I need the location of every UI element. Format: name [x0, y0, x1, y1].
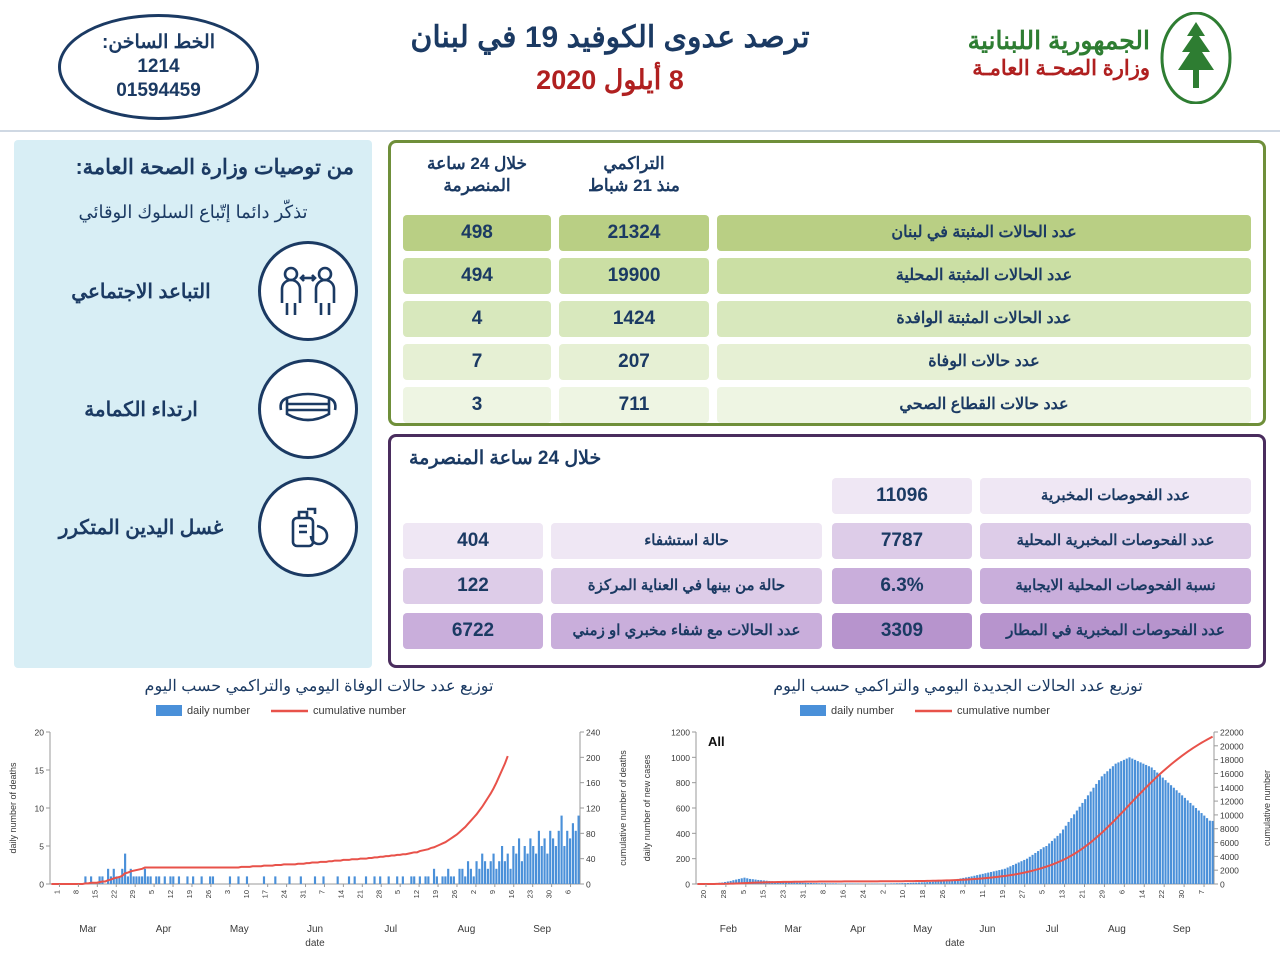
svg-text:Jul: Jul: [1046, 924, 1059, 935]
svg-text:5: 5: [739, 890, 748, 894]
svg-text:daily number: daily number: [831, 705, 894, 717]
table-row: عدد الحالات المثبتة الوافدة 1424 4: [403, 301, 1251, 337]
row-label: عدد حالات الوفاة: [717, 344, 1251, 380]
svg-text:cumulative number: cumulative number: [1262, 770, 1272, 846]
table-row: حالة من بينها في العناية المركزة 122: [403, 568, 822, 604]
table-row: عدد الحالات مع شفاء مخبري او زمني 6722: [403, 613, 822, 649]
cases-chart-panel: توزيع عدد الحالات الجديدة اليومي والتراك…: [640, 676, 1276, 954]
row-value: 6722: [403, 613, 543, 649]
svg-text:0: 0: [1220, 880, 1225, 890]
row-value: 122: [403, 568, 543, 604]
svg-text:5: 5: [393, 890, 402, 894]
svg-text:2: 2: [878, 890, 887, 894]
svg-text:19: 19: [431, 890, 440, 898]
svg-text:200: 200: [586, 753, 600, 763]
row-last24: 494: [403, 258, 551, 294]
cases-summary-box: التراكمي منذ 21 شباط خلال 24 ساعة المنصر…: [388, 140, 1266, 426]
svg-text:24: 24: [858, 890, 867, 898]
svg-text:7: 7: [317, 890, 326, 894]
svg-text:120: 120: [586, 804, 600, 814]
row-value: 3309: [832, 613, 972, 649]
svg-text:14: 14: [1137, 890, 1146, 898]
svg-text:400: 400: [676, 829, 690, 839]
svg-text:5: 5: [1038, 890, 1047, 894]
recommendation-label: غسل اليدين المتكرر: [24, 515, 258, 540]
svg-text:12: 12: [412, 890, 421, 898]
row-label: عدد الفحوصات المخبرية المحلية: [980, 523, 1251, 559]
svg-text:daily number of deaths: daily number of deaths: [8, 762, 18, 854]
svg-text:80: 80: [586, 829, 596, 839]
row-label: نسبة الفحوصات المحلية الايجابية: [980, 568, 1251, 604]
recommendation-item-mask: ارتداء الكمامة: [24, 359, 362, 459]
svg-text:14000: 14000: [1220, 783, 1244, 793]
deaths-chart-title: توزيع عدد حالات الوفاة اليومي والتراكمي …: [6, 676, 632, 696]
svg-text:12: 12: [166, 890, 175, 898]
table-row: عدد الحالات المثبتة في لبنان 21324 498: [403, 215, 1251, 251]
row-label: حالة من بينها في العناية المركزة: [551, 568, 822, 604]
row-last24: 7: [403, 344, 551, 380]
svg-text:5: 5: [39, 842, 44, 852]
last24-header-line1: خلال 24 ساعة: [403, 153, 551, 175]
row-label: عدد الحالات مع شفاء مخبري او زمني: [551, 613, 822, 649]
svg-text:Mar: Mar: [785, 924, 803, 935]
svg-text:17: 17: [261, 890, 270, 898]
row-last24: 498: [403, 215, 551, 251]
page-title: ترصد عدوى الكوفيد 19 في لبنان: [300, 18, 920, 59]
svg-text:20: 20: [35, 728, 45, 738]
tests-left-column: عدد الفحوصات المخبرية 11096 عدد الفحوصات…: [832, 478, 1251, 658]
last24-header: خلال 24 ساعة المنصرمة: [403, 153, 551, 197]
svg-text:22: 22: [109, 890, 118, 898]
svg-text:19: 19: [185, 890, 194, 898]
table-row: عدد حالات الوفاة 207 7: [403, 344, 1251, 380]
cumulative-header-line2: منذ 21 شباط: [559, 175, 709, 197]
svg-text:Apr: Apr: [850, 924, 866, 935]
recommendations-subtitle: تذكّر دائما إتّباع السلوك الوقائي: [24, 202, 362, 223]
hotline-number-1: 1214: [137, 55, 179, 79]
table-row: عدد الفحوصات المخبرية في المطار 3309: [832, 613, 1251, 649]
row-cumulative: 21324: [559, 215, 709, 251]
svg-text:15: 15: [35, 766, 45, 776]
svg-text:Sep: Sep: [533, 924, 551, 935]
svg-text:6: 6: [1117, 890, 1126, 894]
row-cumulative: 1424: [559, 301, 709, 337]
last24-header-line2: المنصرمة: [403, 175, 551, 197]
svg-text:20000: 20000: [1220, 741, 1244, 751]
row-label: عدد الحالات المثبتة الوافدة: [717, 301, 1251, 337]
svg-text:date: date: [945, 938, 965, 949]
svg-text:1: 1: [52, 890, 61, 894]
svg-text:27: 27: [1018, 890, 1027, 898]
svg-text:0: 0: [39, 880, 44, 890]
hotline-label: الخط الساخن:: [102, 31, 215, 55]
row-label: حالة استشفاء: [551, 523, 822, 559]
svg-text:28: 28: [719, 890, 728, 898]
svg-text:cumulative number of deaths: cumulative number of deaths: [618, 750, 628, 866]
row-label: عدد الفحوصات المخبرية: [980, 478, 1251, 514]
svg-text:16: 16: [838, 890, 847, 898]
svg-text:23: 23: [526, 890, 535, 898]
row-value: 6.3%: [832, 568, 972, 604]
svg-text:14: 14: [336, 890, 345, 898]
svg-text:22000: 22000: [1220, 728, 1244, 738]
svg-text:9: 9: [488, 890, 497, 894]
row-cumulative: 207: [559, 344, 709, 380]
ministry-label: وزارة الصحـة العامـة: [968, 56, 1150, 81]
svg-text:30: 30: [545, 890, 554, 898]
report-date: 8 أيلول 2020: [300, 65, 920, 96]
svg-text:40: 40: [586, 854, 596, 864]
svg-text:160: 160: [586, 778, 600, 788]
svg-text:10: 10: [35, 804, 45, 814]
svg-text:21: 21: [1078, 890, 1087, 898]
row-cumulative: 711: [559, 387, 709, 423]
svg-text:800: 800: [676, 778, 690, 788]
svg-text:cumulative number: cumulative number: [957, 705, 1050, 717]
recommendation-label: التباعد الاجتماعي: [24, 279, 258, 304]
svg-text:1000: 1000: [671, 753, 690, 763]
svg-text:600: 600: [676, 804, 690, 814]
svg-text:2: 2: [469, 890, 478, 894]
svg-text:30: 30: [1177, 890, 1186, 898]
svg-text:29: 29: [128, 890, 137, 898]
row-value: 404: [403, 523, 543, 559]
svg-text:0: 0: [586, 880, 591, 890]
svg-text:8: 8: [819, 890, 828, 894]
svg-text:cumulative number: cumulative number: [313, 705, 406, 717]
svg-text:21: 21: [355, 890, 364, 898]
svg-text:3: 3: [223, 890, 232, 894]
svg-text:19: 19: [998, 890, 1007, 898]
svg-text:6000: 6000: [1220, 838, 1239, 848]
social-distancing-icon: [258, 241, 358, 341]
deaths-chart: 0510152004080120160200240181522295121926…: [6, 698, 632, 956]
row-last24: 4: [403, 301, 551, 337]
svg-text:May: May: [913, 924, 932, 935]
svg-text:date: date: [305, 938, 325, 949]
svg-text:daily number of new cases: daily number of new cases: [642, 754, 652, 861]
svg-text:1200: 1200: [671, 728, 690, 738]
svg-text:12000: 12000: [1220, 797, 1244, 807]
row-value: 7787: [832, 523, 972, 559]
svg-text:0: 0: [685, 880, 690, 890]
title-block: ترصد عدوى الكوفيد 19 في لبنان 8 أيلول 20…: [300, 18, 920, 96]
svg-text:24: 24: [280, 890, 289, 898]
table-row: عدد الحالات المثبتة المحلية 19900 494: [403, 258, 1251, 294]
svg-text:22: 22: [1157, 890, 1166, 898]
svg-text:15: 15: [759, 890, 768, 898]
svg-text:4000: 4000: [1220, 852, 1239, 862]
svg-text:29: 29: [1097, 890, 1106, 898]
svg-text:2000: 2000: [1220, 866, 1239, 876]
svg-text:10000: 10000: [1220, 810, 1244, 820]
svg-text:7: 7: [1197, 890, 1206, 894]
row-label: عدد الحالات المثبتة في لبنان: [717, 215, 1251, 251]
tests-box-title: خلال 24 ساعة المنصرمة: [403, 447, 1251, 470]
svg-text:200: 200: [676, 854, 690, 864]
face-mask-icon: [258, 359, 358, 459]
table-row: عدد الفحوصات المخبرية 11096: [832, 478, 1251, 514]
recommendations-panel: من توصيات وزارة الصحة العامة: تذكّر دائم…: [14, 140, 372, 668]
svg-text:18: 18: [918, 890, 927, 898]
svg-text:Aug: Aug: [458, 924, 476, 935]
cedar-logo-icon: [1160, 12, 1232, 104]
svg-text:28: 28: [374, 890, 383, 898]
row-value: 11096: [832, 478, 972, 514]
recommendation-label: ارتداء الكمامة: [24, 397, 258, 422]
svg-text:Apr: Apr: [156, 924, 172, 935]
hotline-number-2: 01594459: [116, 79, 201, 103]
svg-text:3: 3: [958, 890, 967, 894]
svg-text:Mar: Mar: [79, 924, 97, 935]
svg-text:5: 5: [147, 890, 156, 894]
cases-chart-title: توزيع عدد الحالات الجديدة اليومي والتراك…: [640, 676, 1276, 696]
svg-text:26: 26: [450, 890, 459, 898]
svg-text:Jun: Jun: [307, 924, 323, 935]
row-cumulative: 19900: [559, 258, 709, 294]
hotline-badge: الخط الساخن: 1214 01594459: [58, 14, 259, 120]
svg-text:6: 6: [564, 890, 573, 894]
svg-text:8000: 8000: [1220, 824, 1239, 834]
svg-text:31: 31: [799, 890, 808, 898]
svg-text:Jun: Jun: [979, 924, 995, 935]
table-row: عدد الفحوصات المخبرية المحلية 7787: [832, 523, 1251, 559]
tests-summary-box: خلال 24 ساعة المنصرمة عدد الفحوصات المخب…: [388, 434, 1266, 668]
cases-table-header: التراكمي منذ 21 شباط خلال 24 ساعة المنصر…: [403, 153, 1251, 215]
svg-text:10: 10: [242, 890, 251, 898]
svg-text:11: 11: [978, 890, 987, 898]
deaths-chart-panel: توزيع عدد حالات الوفاة اليومي والتراكمي …: [6, 676, 632, 954]
recommendation-item-social-distancing: التباعد الاجتماعي: [24, 241, 362, 341]
row-last24: 3: [403, 387, 551, 423]
svg-text:16000: 16000: [1220, 769, 1244, 779]
republic-label: الجمهورية اللبنانية: [968, 26, 1150, 56]
svg-text:16: 16: [507, 890, 516, 898]
svg-text:18000: 18000: [1220, 755, 1244, 765]
svg-text:All: All: [708, 734, 725, 749]
table-row: نسبة الفحوصات المحلية الايجابية 6.3%: [832, 568, 1251, 604]
svg-text:240: 240: [586, 728, 600, 738]
cumulative-header-line1: التراكمي: [559, 153, 709, 175]
svg-text:26: 26: [204, 890, 213, 898]
table-row: عدد حالات القطاع الصحي 711 3: [403, 387, 1251, 423]
svg-text:15: 15: [90, 890, 99, 898]
infographic-page: الخط الساخن: 1214 01594459 ترصد عدوى الك…: [0, 0, 1280, 960]
row-label: عدد الفحوصات المخبرية في المطار: [980, 613, 1251, 649]
svg-text:Feb: Feb: [720, 924, 738, 935]
recommendation-item-handwash: غسل اليدين المتكرر: [24, 477, 362, 577]
row-label: عدد الحالات المثبتة المحلية: [717, 258, 1251, 294]
svg-text:23: 23: [779, 890, 788, 898]
svg-text:8: 8: [71, 890, 80, 894]
recommendations-title: من توصيات وزارة الصحة العامة:: [24, 154, 362, 182]
svg-text:31: 31: [299, 890, 308, 898]
row-label: عدد حالات القطاع الصحي: [717, 387, 1251, 423]
svg-text:10: 10: [898, 890, 907, 898]
page-header: الخط الساخن: 1214 01594459 ترصد عدوى الك…: [0, 0, 1280, 132]
svg-text:Aug: Aug: [1108, 924, 1126, 935]
cumulative-header: التراكمي منذ 21 شباط: [559, 153, 709, 197]
table-row: حالة استشفاء 404: [403, 523, 822, 559]
tests-right-column: حالة استشفاء 404 حالة من بينها في العناي…: [403, 478, 822, 658]
svg-text:13: 13: [1058, 890, 1067, 898]
cases-chart: 0200400600800100012000200040006000800010…: [640, 698, 1276, 956]
svg-text:20: 20: [699, 890, 708, 898]
svg-text:Jul: Jul: [384, 924, 397, 935]
government-header: الجمهورية اللبنانية وزارة الصحـة العامـة: [968, 26, 1150, 81]
svg-text:daily number: daily number: [187, 705, 250, 717]
svg-text:May: May: [230, 924, 249, 935]
hand-wash-icon: [258, 477, 358, 577]
svg-text:26: 26: [938, 890, 947, 898]
svg-text:Sep: Sep: [1173, 924, 1191, 935]
